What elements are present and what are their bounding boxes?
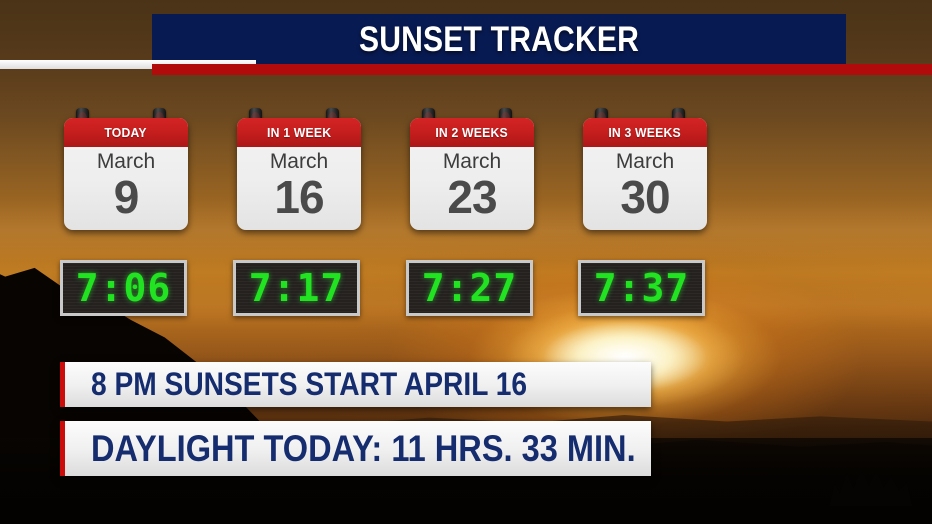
calendar-card-in-2-weeks: IN 2 WEEKS March 23	[410, 118, 534, 230]
calendar-day: 23	[410, 172, 534, 222]
calendar-header: IN 3 WEEKS	[583, 118, 707, 147]
calendar-day: 16	[237, 172, 361, 222]
accent-stripe-red	[152, 64, 932, 75]
sunset-time-display-in-2-weeks: 7:27	[406, 260, 533, 316]
page-title: SUNSET TRACKER	[201, 14, 798, 66]
calendar-label: TODAY	[105, 125, 147, 140]
sunset-time-display-today: 7:06	[60, 260, 187, 316]
calendar-label: IN 2 WEEKS	[436, 125, 508, 140]
calendar-header: IN 2 WEEKS	[410, 118, 534, 147]
banner-text: DAYLIGHT TODAY: 11 HRS. 33 MIN.	[91, 428, 636, 470]
title-bar: SUNSET TRACKER	[152, 14, 846, 66]
sunset-time-display-in-3-weeks: 7:37	[578, 260, 705, 316]
calendar-header: IN 1 WEEK	[237, 118, 361, 147]
calendar-card-today: TODAY March 9	[64, 118, 188, 230]
calendar-label: IN 3 WEEKS	[609, 125, 681, 140]
banner-accent-bar	[60, 421, 65, 476]
calendar-header: TODAY	[64, 118, 188, 147]
calendar-day: 30	[583, 172, 707, 222]
calendar-card-in-1-week: IN 1 WEEK March 16	[237, 118, 361, 230]
banner-8pm-sunsets: 8 PM SUNSETS START APRIL 16	[60, 362, 651, 407]
sunset-time: 7:17	[249, 266, 345, 310]
calendar-day: 9	[64, 172, 188, 222]
sunset-time: 7:37	[594, 266, 690, 310]
banner-daylight-today: DAYLIGHT TODAY: 11 HRS. 33 MIN.	[60, 421, 651, 476]
calendar-card-in-3-weeks: IN 3 WEEKS March 30	[583, 118, 707, 230]
banner-text: 8 PM SUNSETS START APRIL 16	[91, 366, 527, 403]
sunset-tracker-graphic: SUNSET TRACKER TODAY March 9 IN 1 WEEK M…	[0, 0, 932, 524]
sunset-time-display-in-1-week: 7:17	[233, 260, 360, 316]
calendar-label: IN 1 WEEK	[267, 125, 331, 140]
sunset-time: 7:06	[76, 266, 172, 310]
sunset-time: 7:27	[422, 266, 518, 310]
banner-accent-bar	[60, 362, 65, 407]
